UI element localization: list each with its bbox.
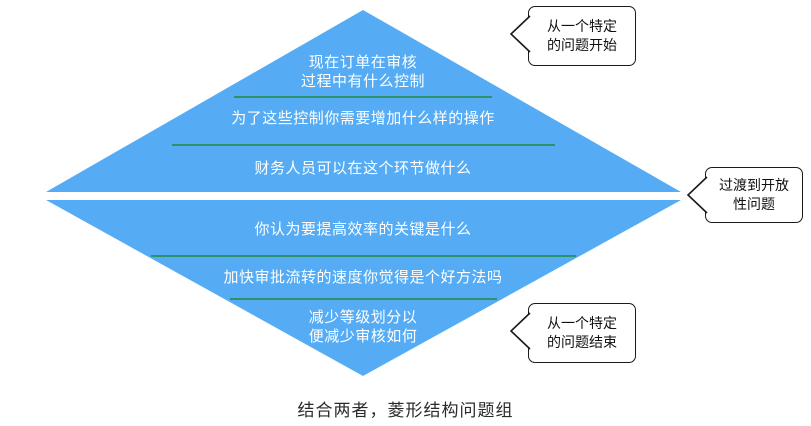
callout-end-label: 从一个特定 的问题结束 xyxy=(547,314,617,352)
diagram-canvas: 现在订单在审核 过程中有什么控制 为了这些控制你需要增加什么样的操作 财务人员可… xyxy=(0,0,811,426)
callout-start-label: 从一个特定 的问题开始 xyxy=(547,17,617,55)
diamond-shape xyxy=(0,0,811,426)
diagram-caption: 结合两者，菱形结构问题组 xyxy=(0,396,811,421)
callout-transition-label: 过渡到开放 性问题 xyxy=(719,176,789,214)
callout-end: 从一个特定 的问题结束 xyxy=(528,303,636,363)
callout-start: 从一个特定 的问题开始 xyxy=(528,6,636,66)
callout-transition: 过渡到开放 性问题 xyxy=(705,167,803,223)
